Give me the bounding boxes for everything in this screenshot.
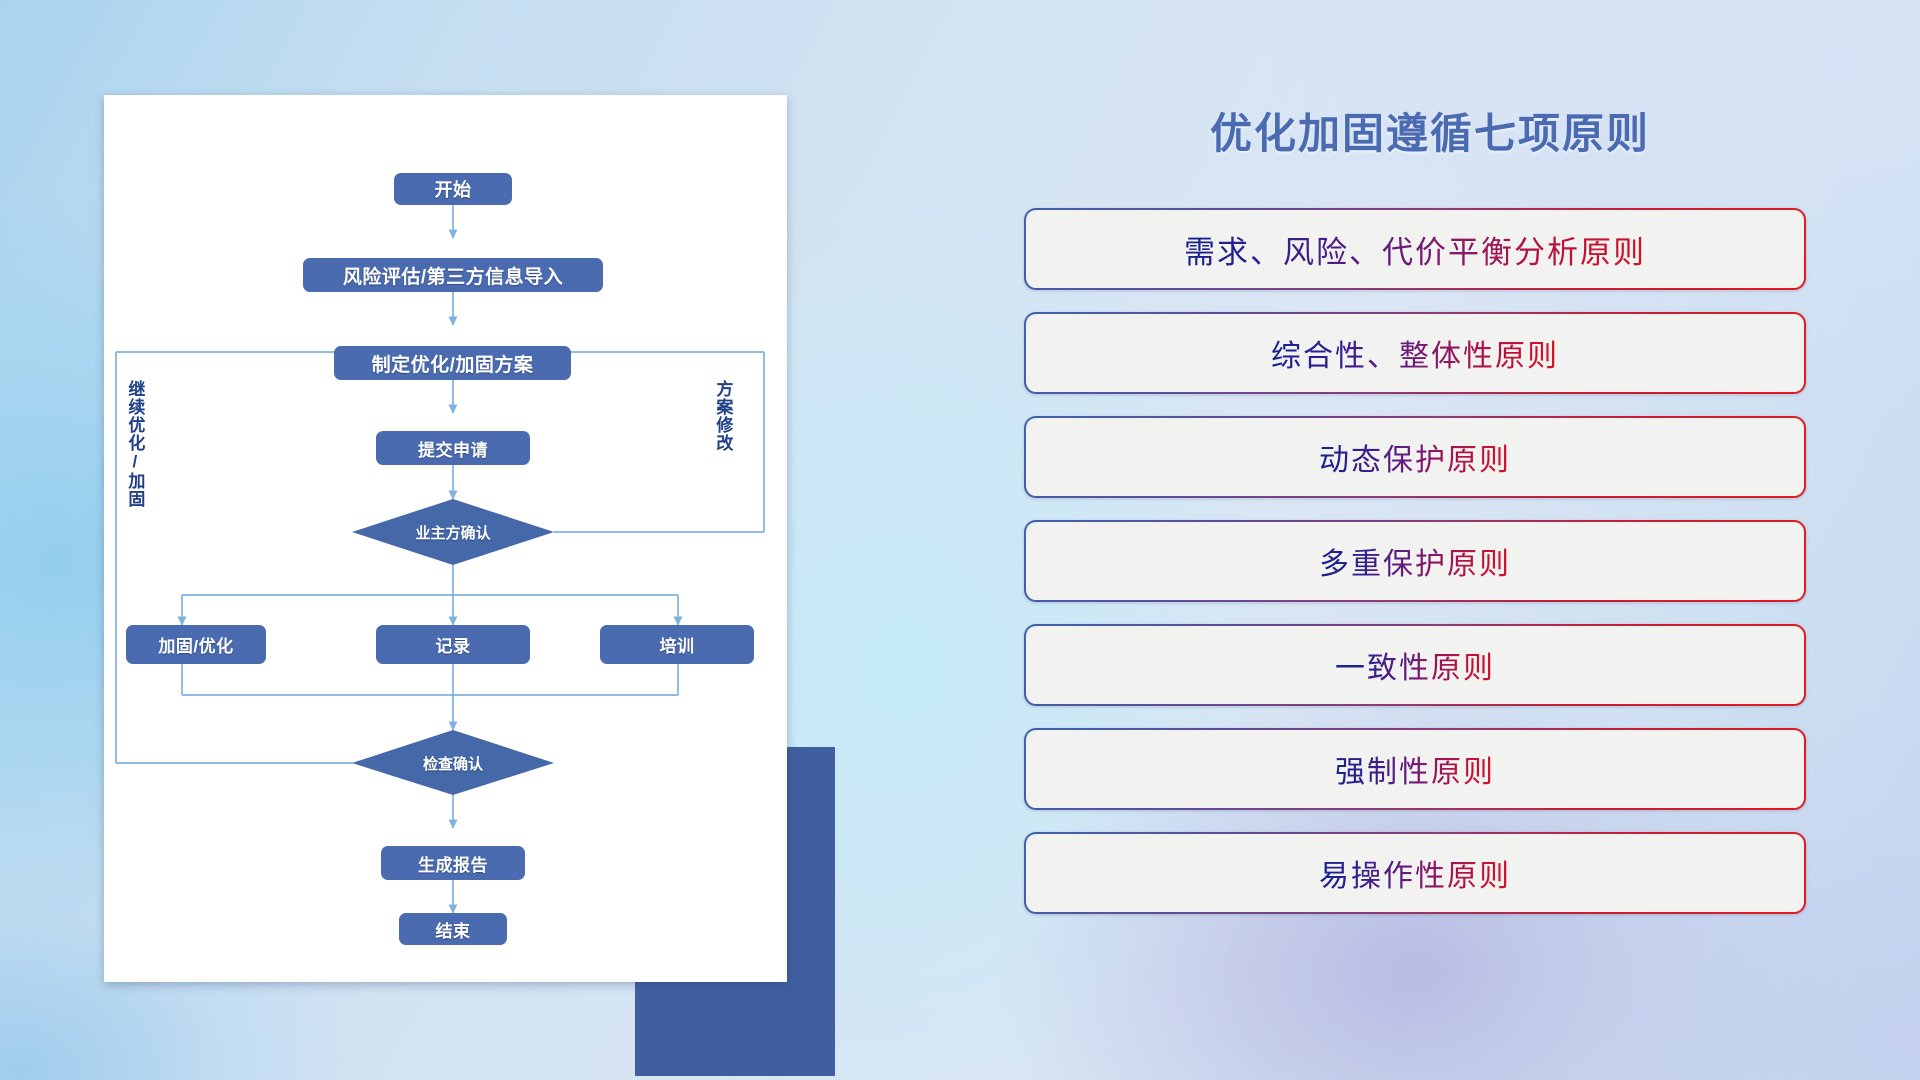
- principle-item-1[interactable]: 需求、风险、代价平衡分析原则: [1024, 208, 1806, 290]
- principle-item-4[interactable]: 多重保护原则: [1024, 520, 1806, 602]
- principle-item-7-inner: 易操作性原则: [1026, 834, 1804, 912]
- principle-item-3-inner: 动态保护原则: [1026, 418, 1804, 496]
- node-end[interactable]: 结束: [399, 913, 507, 945]
- node-record[interactable]: 记录: [376, 625, 530, 664]
- principles-title: 优化加固遵循七项原则: [1020, 100, 1840, 161]
- principle-item-7[interactable]: 易操作性原则: [1024, 832, 1806, 914]
- principle-item-3-label: 动态保护原则: [1319, 435, 1511, 479]
- principle-item-5-label: 一致性原则: [1335, 643, 1495, 687]
- principle-item-2-inner: 综合性、整体性原则: [1026, 314, 1804, 392]
- node-risk-assessment[interactable]: 风险评估/第三方信息导入: [303, 258, 603, 292]
- principle-item-7-label: 易操作性原则: [1319, 851, 1511, 895]
- decision-owner-confirm: [352, 499, 554, 565]
- principle-item-4-inner: 多重保护原则: [1026, 522, 1804, 600]
- principle-item-5-inner: 一致性原则: [1026, 626, 1804, 704]
- principle-item-1-label: 需求、风险、代价平衡分析原则: [1184, 227, 1646, 272]
- node-generate-report[interactable]: 生成报告: [381, 846, 525, 880]
- node-make-plan[interactable]: 制定优化/加固方案: [334, 346, 571, 380]
- principle-item-6-label: 强制性原则: [1335, 747, 1495, 791]
- decision-final-check: [352, 730, 554, 795]
- principle-item-4-label: 多重保护原则: [1319, 539, 1511, 583]
- node-reinforce-optimize[interactable]: 加固/优化: [126, 625, 266, 664]
- node-training[interactable]: 培训: [600, 625, 754, 664]
- principle-item-2-label: 综合性、整体性原则: [1271, 331, 1559, 375]
- principles-list: 需求、风险、代价平衡分析原则 综合性、整体性原则 动态保护原则 多重保护原则 一…: [1024, 208, 1806, 936]
- principles-panel: 优化加固遵循七项原则 需求、风险、代价平衡分析原则 综合性、整体性原则 动态保护…: [1020, 100, 1840, 1000]
- principle-item-6[interactable]: 强制性原则: [1024, 728, 1806, 810]
- principle-item-6-inner: 强制性原则: [1026, 730, 1804, 808]
- principle-item-3[interactable]: 动态保护原则: [1024, 416, 1806, 498]
- principle-item-1-inner: 需求、风险、代价平衡分析原则: [1026, 210, 1804, 288]
- edge-label-continue-optimize: 继续优化/加固: [126, 380, 143, 530]
- node-submit-application[interactable]: 提交申请: [376, 431, 530, 465]
- node-start[interactable]: 开始: [394, 173, 512, 205]
- edge-label-plan-revision: 方案修改: [714, 380, 731, 490]
- flowchart-panel: 开始 风险评估/第三方信息导入 制定优化/加固方案 提交申请 业主方确认 加固/…: [104, 95, 787, 975]
- principle-item-5[interactable]: 一致性原则: [1024, 624, 1806, 706]
- principle-item-2[interactable]: 综合性、整体性原则: [1024, 312, 1806, 394]
